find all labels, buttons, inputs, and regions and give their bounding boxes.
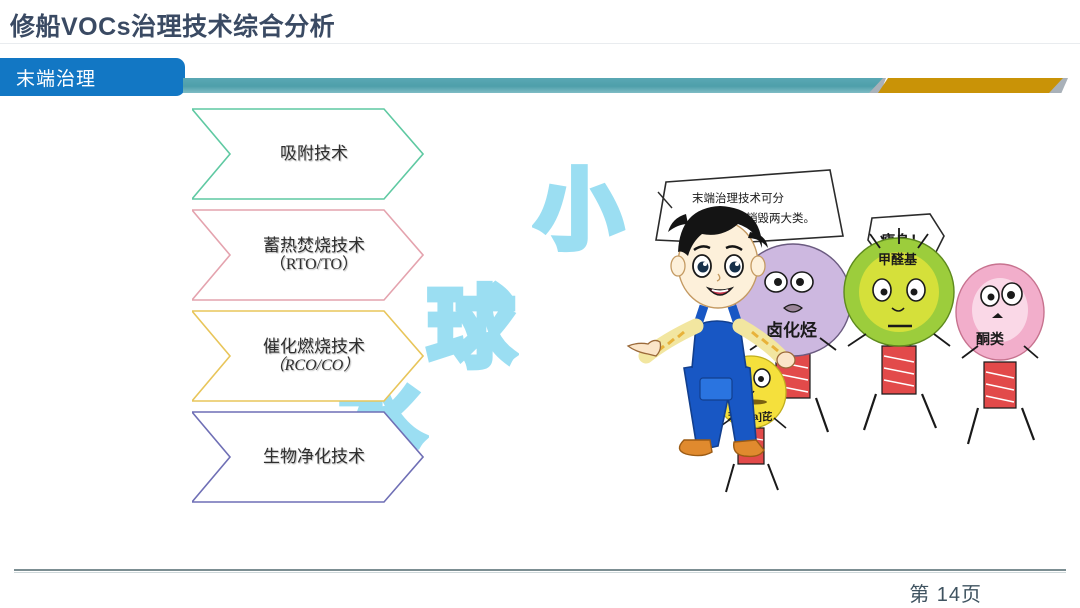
chevron-label-main: 吸附技术: [280, 144, 348, 163]
chevron-item[interactable]: 生物净化技术: [192, 411, 424, 503]
balloon-character-ketone: [956, 264, 1044, 444]
teal-accent-bar: [183, 78, 883, 93]
slide-canvas: 修船VOCs治理技术综合分析 末端治理 小 球 水 吸附技术 蓄热焚烧技术: [0, 0, 1080, 608]
technology-chevron-list: 吸附技术 蓄热焚烧技术 （RTO/TO） 催化燃烧技术 （RCO/CO）: [192, 108, 424, 512]
watermark-char-2: 球: [428, 258, 514, 383]
chevron-label-main: 蓄热焚烧技术: [263, 236, 365, 255]
chevron-label-main: 生物净化技术: [263, 447, 365, 466]
chevron-item[interactable]: 催化燃烧技术 （RCO/CO）: [192, 310, 424, 402]
chevron-item[interactable]: 蓄热焚烧技术 （RTO/TO）: [192, 209, 424, 301]
chevron-label-sub: （RCO/CO）: [263, 357, 365, 376]
chevron-label: 生物净化技术: [251, 447, 365, 467]
speech-bubble-main-line1: 末端治理技术可分: [692, 191, 784, 205]
chevron-label-main: 催化燃烧技术: [263, 337, 365, 356]
page-title: 修船VOCs治理技术综合分析: [10, 7, 335, 43]
gold-accent-bar: [878, 78, 1063, 93]
chevron-label: 催化燃烧技术 （RCO/CO）: [251, 337, 365, 376]
footer-divider-bottom: [14, 572, 1066, 573]
chevron-label: 蓄热焚烧技术 （RTO/TO）: [251, 236, 365, 275]
balloon-label-formaldehyde: 甲醛基: [878, 252, 918, 267]
section-tab-label: 末端治理: [0, 64, 96, 91]
page-number: 第 14页: [909, 578, 982, 607]
chevron-label-sub: （RTO/TO）: [263, 256, 365, 275]
balloon-label-ketone: 酮类: [976, 331, 1005, 347]
cartoon-illustration: 末端治理技术可分 为回收和销毁两大类。 瘦身！: [600, 140, 1070, 510]
section-tab[interactable]: 末端治理: [0, 58, 185, 96]
chevron-item[interactable]: 吸附技术: [192, 108, 424, 200]
balloon-label-halohydrocarbon: 卤化烃: [766, 320, 817, 340]
chevron-label: 吸附技术: [268, 144, 348, 164]
title-divider: [0, 43, 1080, 44]
footer-divider-top: [14, 569, 1066, 571]
illustration-svg: 末端治理技术可分 为回收和销毁两大类。 瘦身！: [600, 140, 1070, 510]
